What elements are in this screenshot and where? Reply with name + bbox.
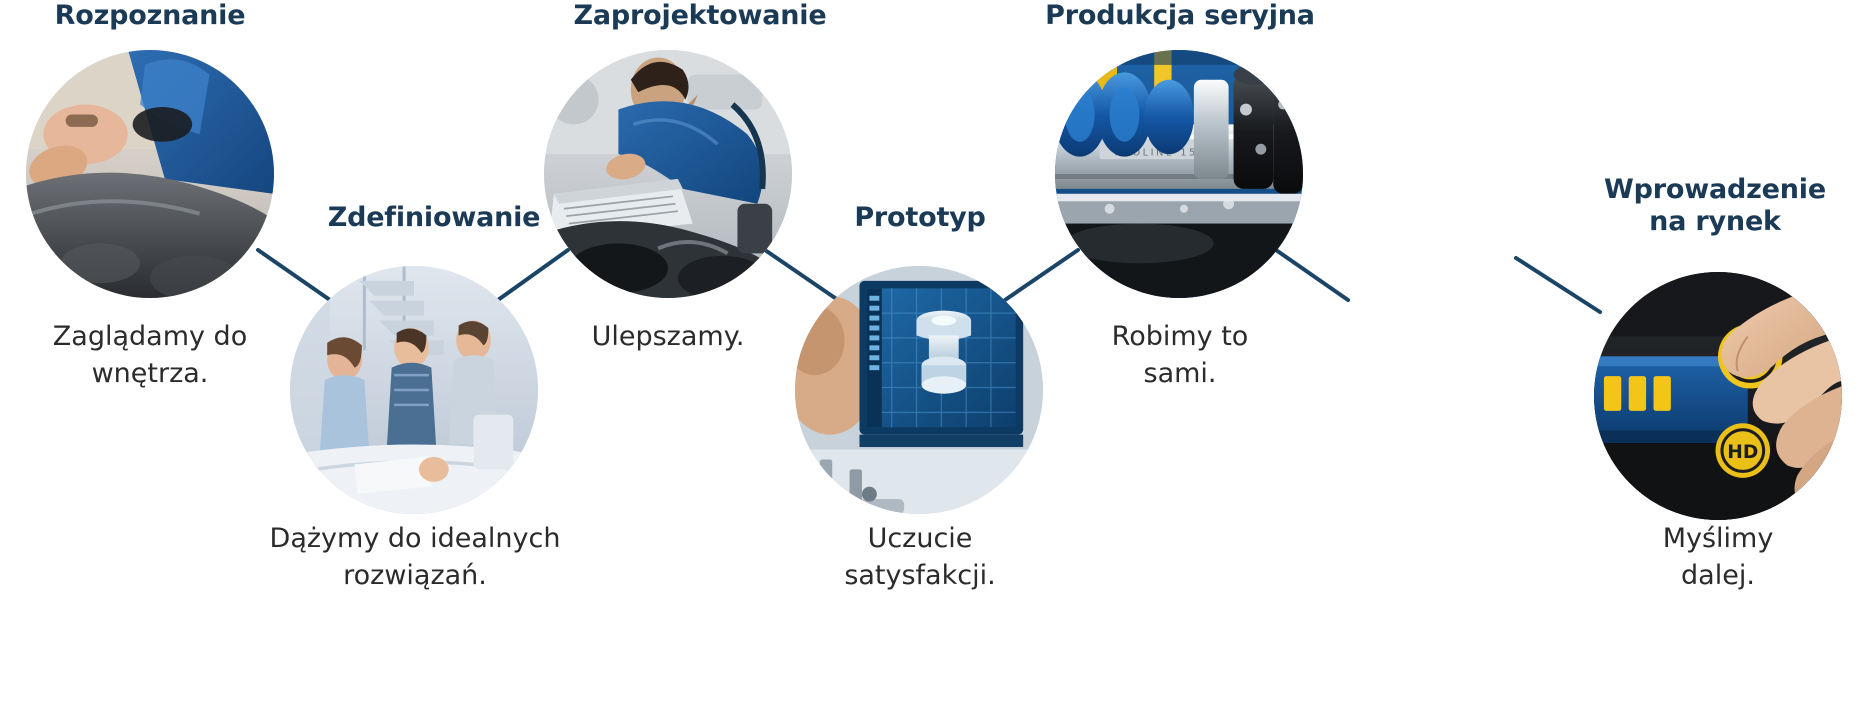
circle-produkcja-seryjna: PROLINE 1500 [1055,50,1303,298]
heading-zdefiniowanie: Zdefiniowanie [290,202,578,234]
connector-1 [258,250,330,300]
connector-5 [1276,250,1348,300]
svg-text:HD: HD [1727,442,1758,463]
circle-zdefiniowanie [290,266,538,514]
caption-prototyp: Uczucie satysfakcji. [790,520,1050,595]
mechanic-inspecting-engine-photo [26,50,274,298]
circle-zaprojektowanie [544,50,792,298]
heading-produkcja-seryjna: Produkcja seryjna [1020,0,1340,32]
caption-produkcja-seryjna: Robimy to sami. [1050,318,1310,393]
connector-6 [1516,258,1600,312]
heading-wprowadzenie-na-rynek: Wprowadzenie na rynek [1570,174,1860,238]
caption-rozpoznanie: Zaglądamy do wnętrza. [20,318,280,393]
heading-zaprojektowanie: Zaprojektowanie [540,0,860,32]
connector-3 [765,250,838,300]
connector-4 [1005,250,1078,300]
caption-zaprojektowanie: Ulepszamy. [538,318,798,355]
shock-absorbers-production-line-photo: PROLINE 1500 [1055,50,1303,298]
heading-prototyp: Prototyp [830,202,1010,234]
caption-zdefiniowanie: Dążymy do idealnych rozwiązań. [250,520,580,595]
process-infographic: Rozpoznanie [0,0,1869,705]
circle-prototyp [795,266,1043,514]
hand-applying-product-label-photo: HD HD [1594,272,1842,520]
cad-screen-prototype-photo [795,266,1043,514]
heading-rozpoznanie: Rozpoznanie [24,0,276,32]
circle-wprowadzenie-na-rynek: HD HD [1594,272,1842,520]
connector-2 [498,250,568,300]
team-meeting-blueprint-photo [290,266,538,514]
circle-rozpoznanie [26,50,274,298]
engineer-laptop-engine-photo [544,50,792,298]
caption-wprowadzenie-na-rynek: Myślimy dalej. [1588,520,1848,595]
